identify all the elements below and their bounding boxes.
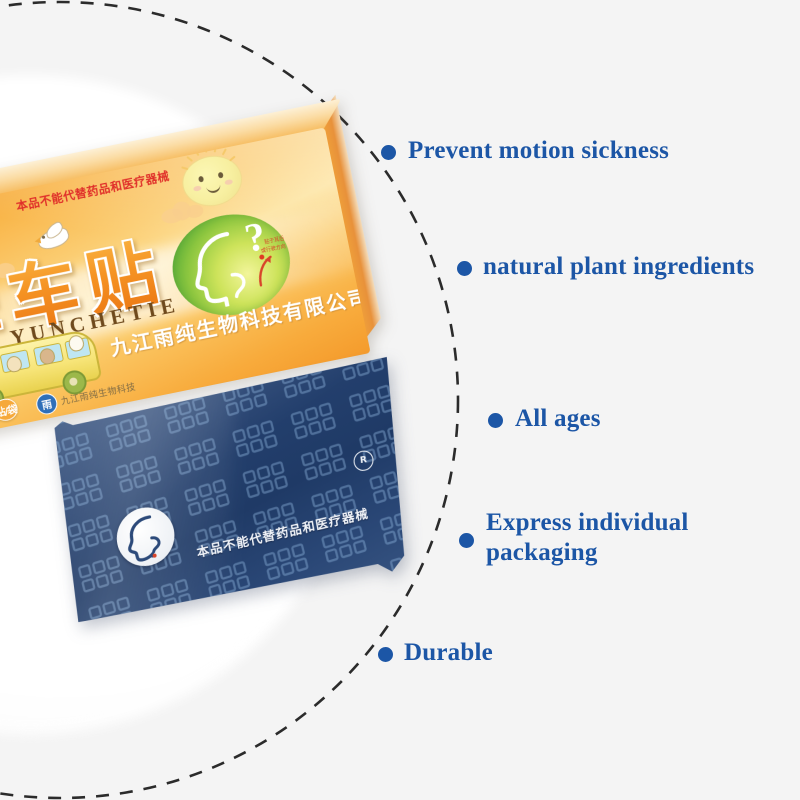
feature-bullet-durable <box>378 647 393 662</box>
sun-icon <box>179 152 245 211</box>
feature-bullet-natural-plant-ingredients <box>457 261 472 276</box>
feature-bullet-express-individual-packaging <box>459 533 474 548</box>
feature-label-natural-plant-ingredients: natural plant ingredients <box>483 252 754 282</box>
feature-label-all-ages: All ages <box>515 404 601 434</box>
feature-bullet-all-ages <box>488 413 503 428</box>
arrow-icon <box>249 249 285 288</box>
feature-bullet-prevent-motion-sickness <box>381 145 396 160</box>
product-photo: 晕车贴 本品不能代替药品和医疗器械 <box>0 0 440 640</box>
feature-label-prevent-motion-sickness: Prevent motion sickness <box>408 136 669 166</box>
infographic-canvas: 晕车贴 本品不能代替药品和医疗器械 <box>0 0 800 800</box>
feature-label-durable: Durable <box>404 638 493 668</box>
feature-label-express-individual-packaging: Express individual packaging <box>486 508 689 567</box>
sachet-head-icon <box>114 503 177 570</box>
